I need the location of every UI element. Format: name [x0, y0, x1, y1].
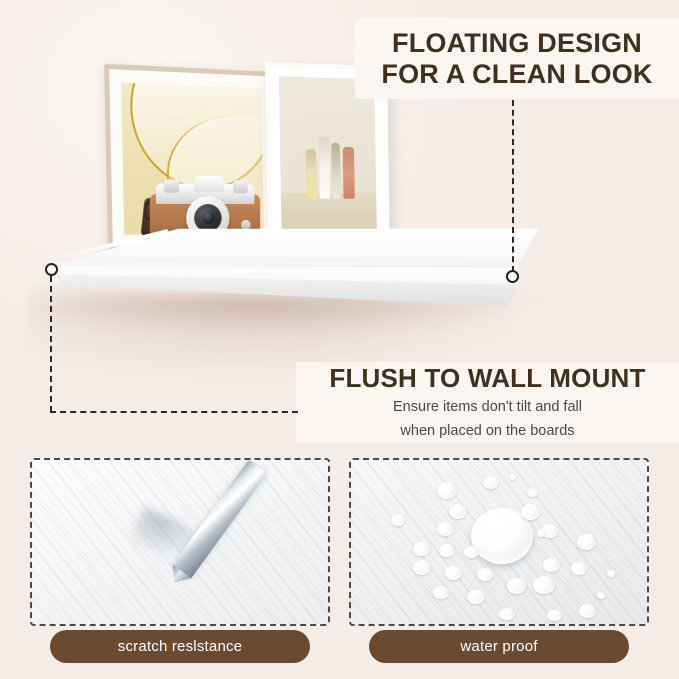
water-drop — [579, 604, 596, 618]
water-drop — [533, 576, 555, 594]
artwork-bottle — [319, 137, 331, 199]
water-drop — [449, 504, 467, 519]
callout-heading-line1: FLOATING DESIGN — [392, 28, 642, 59]
callout-floating-design: FLOATING DESIGN FOR A CLEAN LOOK — [355, 18, 679, 99]
badge-label: scratch reslstance — [118, 638, 242, 655]
callout-connector-line-right — [512, 100, 514, 272]
callout-connector-line-left-horizontal — [50, 411, 298, 413]
badge-label: water proof — [460, 638, 537, 655]
water-drop — [527, 488, 538, 497]
badge-water-proof[interactable]: water proof — [369, 630, 629, 663]
water-drop — [547, 610, 562, 621]
water-drop — [607, 570, 615, 577]
callout-subtext-line2: when placed on the boards — [400, 422, 574, 441]
callout-subtext-line1: Ensure items don't tilt and fall — [393, 398, 582, 417]
camera-dial-right — [233, 180, 247, 193]
water-drop — [445, 566, 462, 580]
callout-heading: FLUSH TO WALL MOUNT — [329, 364, 645, 393]
camera-viewfinder-prism — [194, 176, 223, 192]
feature-image-water-proof — [349, 458, 649, 626]
water-drop — [467, 590, 485, 604]
artwork-still-life-bottles — [279, 76, 377, 234]
camera-dial-left — [164, 180, 179, 193]
water-drop — [577, 534, 596, 550]
water-drop — [499, 608, 515, 620]
artwork-bottle — [343, 146, 355, 199]
artwork-bottle — [331, 143, 340, 199]
water-drop — [543, 558, 560, 572]
water-drop — [413, 542, 430, 556]
camera-lens-glass — [202, 211, 215, 224]
water-drop — [507, 578, 526, 594]
water-drop — [597, 592, 605, 599]
water-drop — [521, 504, 540, 520]
water-drop — [437, 482, 457, 499]
water-drop — [477, 568, 493, 581]
badge-scratch-resistance[interactable]: scratch reslstance — [50, 630, 310, 663]
artwork-bottle — [305, 149, 316, 199]
callout-connector-line-left-vertical — [50, 276, 52, 412]
callout-flush-mount: FLUSH TO WALL MOUNT Ensure items don't t… — [296, 362, 679, 443]
water-drop — [537, 530, 545, 537]
callout-heading-line2: FOR A CLEAN LOOK — [381, 59, 652, 90]
water-drop — [433, 586, 449, 599]
feature-image-scratch-resistance — [30, 458, 330, 626]
callout-anchor-dot-right — [506, 270, 519, 283]
callout-anchor-dot-left — [45, 263, 58, 276]
infographic-canvas: FLOATING DESIGN FOR A CLEAN LOOK FLUSH T… — [0, 0, 679, 679]
water-drop — [439, 544, 455, 557]
water-drop — [391, 514, 405, 526]
floating-shelf — [38, 228, 538, 332]
water-drop — [464, 546, 479, 558]
water-drop — [509, 474, 516, 480]
water-drop — [571, 562, 587, 575]
water-drop — [437, 522, 454, 536]
water-drop — [413, 560, 431, 575]
water-drop — [483, 476, 499, 489]
